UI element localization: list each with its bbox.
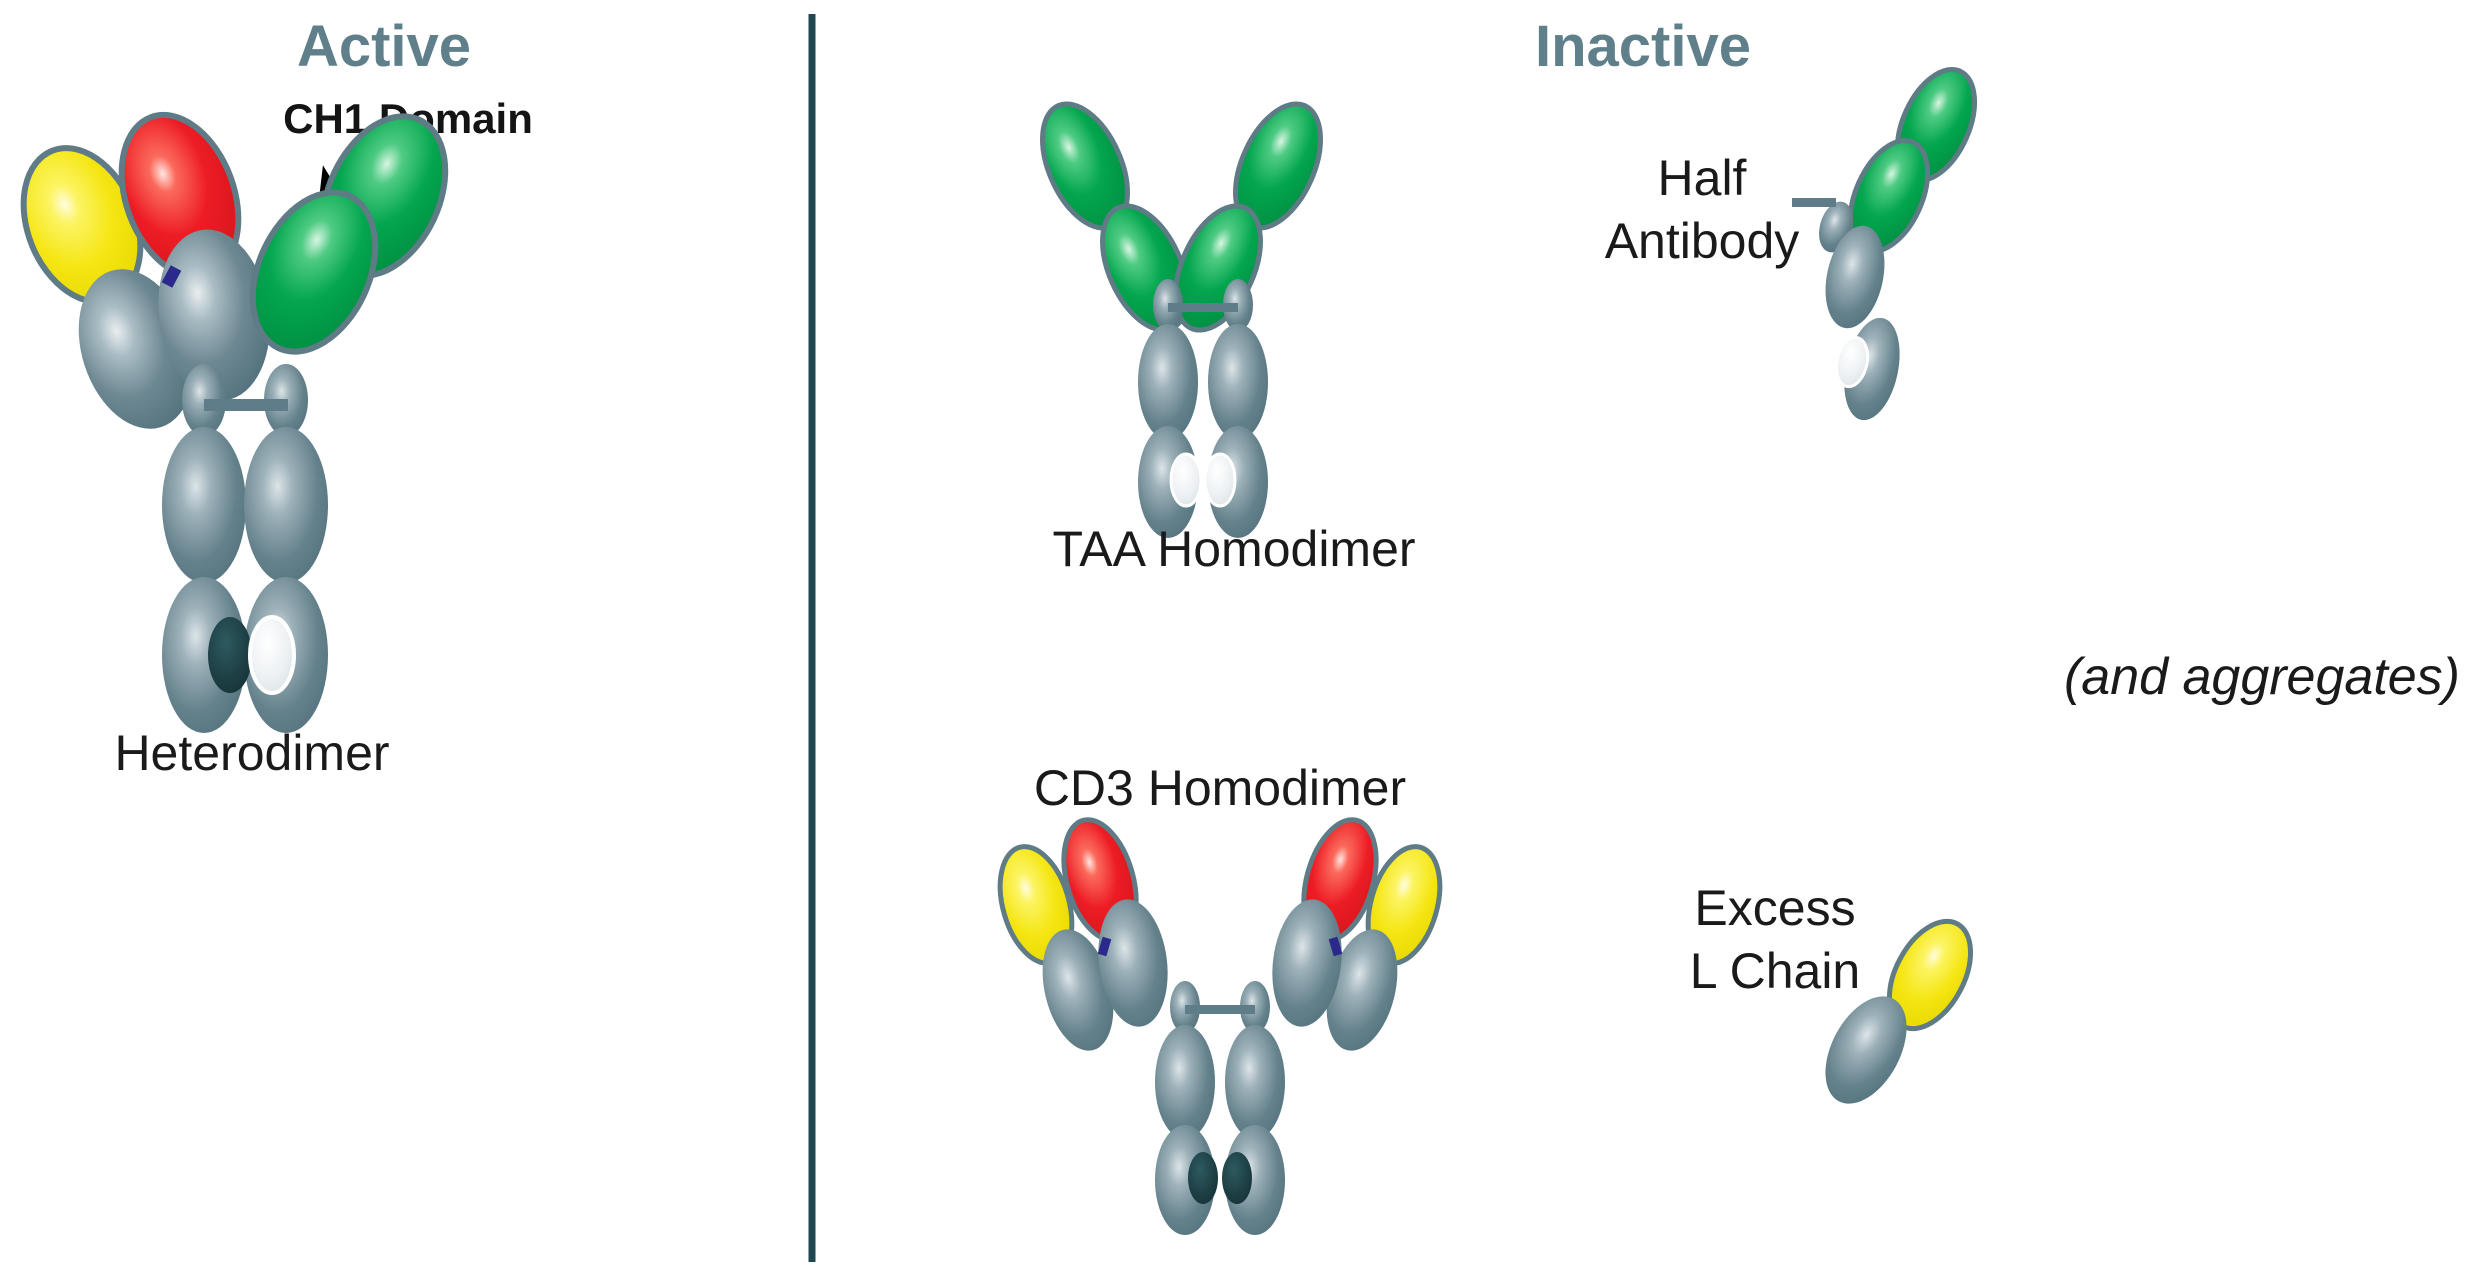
cd3-ch3-knob-marker-left — [1188, 1152, 1218, 1204]
cd3-homodimer-caption: CD3 Homodimer — [1034, 760, 1406, 816]
antibody-species-diagram: Active CH1 Domain — [0, 0, 2475, 1268]
taa-domain-ch2-left — [1138, 324, 1198, 440]
cd3-domain-ch2-left — [1155, 1025, 1215, 1139]
excess-l-chain-caption-line1: Excess — [1694, 880, 1855, 936]
disulfide-bond-left — [167, 268, 176, 285]
inactive-panel: Inactive TAA Homodimer Half Antibody — [988, 14, 2460, 1235]
half-antibody-caption-line2: Antibody — [1605, 213, 1800, 269]
hinge-bar — [204, 399, 288, 411]
heterodimer-molecule: Heterodimer — [2, 97, 469, 781]
aggregates-note: (and aggregates) — [2064, 648, 2460, 706]
excess-l-chain-caption-line2: L Chain — [1690, 943, 1860, 999]
inactive-panel-heading: Inactive — [1535, 14, 1751, 79]
domain-ch2-right — [244, 427, 328, 583]
figure-canvas: Active CH1 Domain — [0, 0, 2475, 1268]
taa-ch3-hole-marker-left — [1171, 454, 1201, 506]
ch3-knob-marker — [208, 617, 252, 693]
cd3-disulfide-bond-left — [1102, 938, 1107, 955]
active-panel-heading: Active — [297, 14, 471, 79]
active-panel: Active CH1 Domain — [2, 14, 533, 781]
taa-ch3-hole-marker-right — [1205, 454, 1235, 506]
cd3-ch3-knob-marker-right — [1222, 1152, 1252, 1204]
domain-ch2-left — [162, 427, 246, 583]
cd3-hinge-bar — [1185, 1005, 1255, 1014]
cd3-domain-ch2-right — [1225, 1025, 1285, 1139]
taa-hinge-bar — [1168, 303, 1238, 312]
half-hinge-stub-bar — [1792, 198, 1836, 207]
ch3-hole-marker — [250, 617, 294, 693]
half-antibody-molecule: Half Antibody — [1605, 58, 1990, 426]
cd3-homodimer-molecule: CD3 Homodimer — [988, 760, 1453, 1235]
half-antibody-caption-line1: Half — [1658, 150, 1747, 206]
taa-homodimer-molecule: TAA Homodimer — [1025, 91, 1415, 577]
taa-homodimer-caption: TAA Homodimer — [1052, 521, 1415, 577]
taa-domain-ch2-right — [1208, 324, 1268, 440]
heterodimer-caption: Heterodimer — [114, 725, 389, 781]
excess-l-chain-molecule: Excess L Chain — [1690, 880, 1987, 1117]
cd3-disulfide-bond-right — [1333, 938, 1338, 955]
